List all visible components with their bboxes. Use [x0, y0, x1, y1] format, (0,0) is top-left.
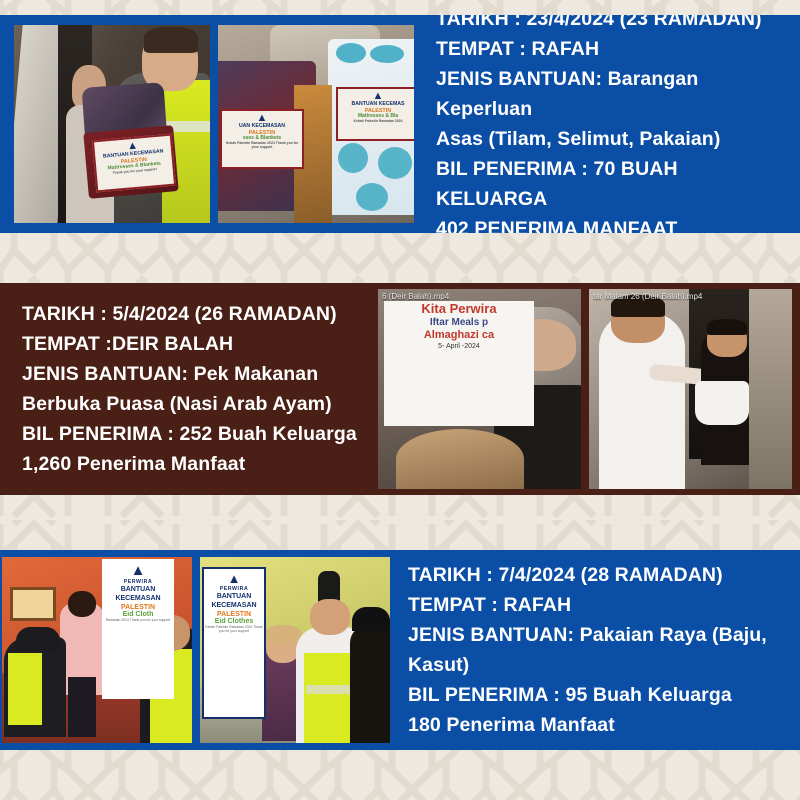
panel-3-line-2: TEMPAT : RAFAH — [408, 590, 786, 620]
aid-label-left-package: ▲ UAN KECEMASAN PALESTIN sses & Blankets… — [220, 109, 304, 169]
panel-1-media-group: ▲ BANTUAN KECEMASAN PALESTIN Mattresses … — [0, 15, 414, 233]
video1-sign-line2: Iftar Meals p — [384, 316, 534, 329]
aid-panel-deir-balah-26-ramadan: TARIKH : 5/4/2024 (26 RAMADAN) TEMPAT :D… — [0, 283, 800, 495]
panel-3-line-6: 180 Penerima Manfaat — [408, 710, 786, 740]
panel-1-line-6: 402 PENERIMA MANFAAT — [436, 214, 786, 233]
aid-panel-rafah-23-ramadan: ▲ BANTUAN KECEMASAN PALESTIN Mattresses … — [0, 15, 800, 233]
aid-label-right-package: ▲ BANTUAN KECEMAS PALESTIN Mattresses & … — [336, 87, 414, 141]
panel-3-line-3: JENIS BANTUAN: Pakaian Raya (Baju, — [408, 620, 786, 650]
panel-2-line-6: 1,260 Penerima Manfaat — [22, 449, 368, 479]
panel-1-line-1: TARIKH : 23/4/2024 (23 RAMADAN) — [436, 15, 786, 34]
banner2-line2: KECEMASAN — [204, 601, 264, 610]
banner2-line1: BANTUAN — [204, 592, 264, 601]
video2-filename: tar Malam 26 (Deir Balah).mp4 — [593, 292, 792, 301]
panel-2-line-4: Berbuka Puasa (Nasi Arab Ayam) — [22, 389, 368, 419]
panel-3-line-4: Kasut) — [408, 650, 786, 680]
photo-aid-handover-girl[interactable]: ▲ BANTUAN KECEMASAN PALESTIN Mattresses … — [14, 25, 210, 223]
banner2-line4: Eid Clothes — [204, 618, 264, 625]
banner-perwira-eid-clothes: ▲ PERWIRA BANTUAN KECEMASAN PALESTIN Eid… — [202, 567, 266, 719]
panel-1-text-block: TARIKH : 23/4/2024 (23 RAMADAN) TEMPAT :… — [414, 15, 800, 233]
aid-label-mattresses-blankets: ▲ BANTUAN KECEMASAN PALESTIN Mattresses … — [92, 134, 176, 193]
photo-eid-clothes-shoe-fitting[interactable]: ▲ PERWIRA BANTUAN KECEMASAN PALESTIN Eid… — [2, 557, 192, 743]
banner1-line4: Eid Cloth — [102, 611, 174, 618]
panel-3-media-group: ▲ PERWIRA BANTUAN KECEMASAN PALESTIN Eid… — [0, 550, 390, 750]
panel-2-line-1: TARIKH : 5/4/2024 (26 RAMADAN) — [22, 299, 368, 329]
panel-3-text-block: TARIKH : 7/4/2024 (28 RAMADAN) TEMPAT : … — [390, 550, 800, 750]
panel-2-text-block: TARIKH : 5/4/2024 (26 RAMADAN) TEMPAT :D… — [0, 283, 378, 495]
banner1-line2: KECEMASAN — [102, 594, 174, 603]
video1-sign-line1: Kita Perwira — [384, 301, 534, 316]
photo-eid-clothes-girl[interactable]: ▲ PERWIRA BANTUAN KECEMASAN PALESTIN Eid… — [200, 557, 390, 743]
panel-2-line-2: TEMPAT :DEIR BALAH — [22, 329, 368, 359]
panel-1-line-5: BIL PENERIMA : 70 BUAH KELUARGA — [436, 154, 786, 214]
banner2-small: Kebah Palestin Ramadan 2024 Thank you fo… — [204, 625, 264, 634]
video1-sign-line4: 5- April -2024 — [384, 342, 534, 352]
panel-2-line-3: JENIS BANTUAN: Pek Makanan — [22, 359, 368, 389]
panel-2-media-group: Kita Perwira Iftar Meals p Almaghazi ca … — [378, 283, 800, 495]
video-frame-iftar-meals-banner[interactable]: Kita Perwira Iftar Meals p Almaghazi ca … — [378, 289, 581, 489]
video1-sign-line3: Almaghazi ca — [384, 329, 534, 342]
panel-3-line-5: BIL PENERIMA : 95 Buah Keluarga — [408, 680, 786, 710]
panel-1-line-2: TEMPAT : RAFAH — [436, 34, 786, 64]
panel-2-line-5: BIL PENERIMA : 252 Buah Keluarga — [22, 419, 368, 449]
panel-3-line-1: TARIKH : 7/4/2024 (28 RAMADAN) — [408, 560, 786, 590]
panel-1-line-4: Asas (Tilam, Selimut, Pakaian) — [436, 124, 786, 154]
banner-perwira-eid-cloth: ▲ PERWIRA BANTUAN KECEMASAN PALESTIN Eid… — [102, 559, 174, 699]
banner1-line1: BANTUAN — [102, 585, 174, 594]
photo-aid-packages-stack[interactable]: ▲ UAN KECEMASAN PALESTIN sses & Blankets… — [218, 25, 414, 223]
banner2-line3: PALESTIN — [204, 611, 264, 618]
panel-1-line-3: JENIS BANTUAN: Barangan Keperluan — [436, 64, 786, 124]
aid-panel-rafah-28-ramadan: ▲ PERWIRA BANTUAN KECEMASAN PALESTIN Eid… — [0, 550, 800, 750]
video-frame-meal-handover[interactable]: tar Malam 26 (Deir Balah).mp4 — [589, 289, 792, 489]
banner1-line3: PALESTIN — [102, 604, 174, 611]
video1-filename: 6 (Deir Balah).mp4 — [382, 292, 581, 301]
banner1-small: Ramadan 2024 Thank you for your support — [102, 618, 174, 622]
